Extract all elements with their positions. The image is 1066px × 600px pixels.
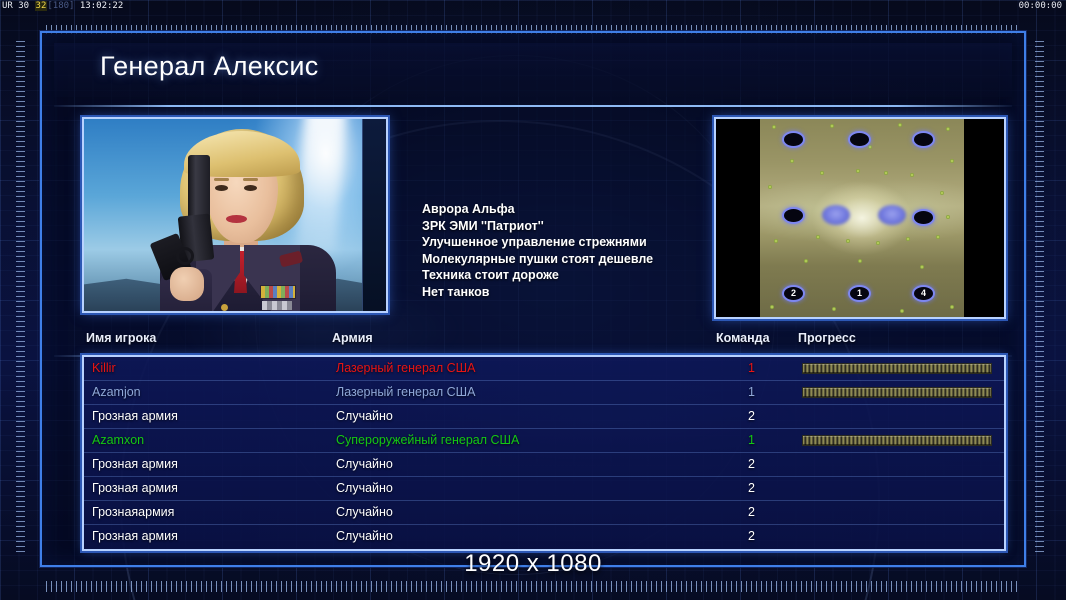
table-row[interactable]: AzamxonСупероружейный генерал США1 <box>84 429 1004 453</box>
ruler-decoration-left <box>16 41 25 554</box>
status-prefix: UR <box>2 1 13 11</box>
map-foliage-dot <box>900 309 904 313</box>
portrait-button-1 <box>221 304 228 311</box>
game-lobby-screen: UR 30 32[180] 13:02:22 00:00:00 Генерал … <box>0 0 1066 600</box>
map-start-position <box>782 207 805 224</box>
map-foliage-dot <box>876 241 880 245</box>
map-foliage-dot <box>820 171 824 175</box>
description-line: Аврора Альфа <box>422 201 712 218</box>
general-portrait <box>82 117 388 313</box>
player-team: 1 <box>748 433 755 447</box>
portrait-side-panel <box>362 119 386 311</box>
pistol-triggerguard-icon <box>176 247 194 265</box>
map-foliage-dot <box>830 124 834 128</box>
player-name: Грознаяармия <box>92 505 174 519</box>
table-row[interactable]: AzamjonЛазерный генерал США1 <box>84 381 1004 405</box>
player-army: Лазерный генерал США <box>336 385 475 399</box>
portrait-medal-ribbons <box>260 285 296 299</box>
map-start-position: 4 <box>912 285 935 302</box>
map-foliage-dot <box>770 305 774 309</box>
player-name: Грозная армия <box>92 529 178 543</box>
map-foliage-dot <box>898 123 902 127</box>
map-foliage-dot <box>774 239 778 243</box>
player-table-body: KillirЛазерный генерал США1AzamjonЛазерн… <box>82 355 1006 551</box>
status-bracket: [180] <box>47 1 74 11</box>
map-start-position <box>912 131 935 148</box>
map-start-position <box>848 131 871 148</box>
map-start-position: 2 <box>782 285 805 302</box>
player-army: Супероружейный генерал США <box>336 433 519 447</box>
map-start-position <box>912 209 935 226</box>
portrait-eye-left <box>215 185 228 191</box>
map-foliage-dot <box>950 305 954 309</box>
player-team: 2 <box>748 529 755 543</box>
description-line: Нет танков <box>422 284 712 301</box>
map-foliage-dot <box>868 145 872 149</box>
map-foliage-dot <box>906 237 910 241</box>
map-foliage-dot <box>950 159 954 163</box>
portrait-hand <box>170 267 204 301</box>
map-foliage-dot <box>940 191 944 195</box>
player-name: Azamxon <box>92 433 144 447</box>
table-row[interactable]: Грозная армияСлучайно2 <box>84 405 1004 429</box>
map-foliage-dot <box>884 171 888 175</box>
map-water-left <box>822 205 850 225</box>
player-progress-bar <box>802 363 992 374</box>
map-foliage-dot <box>946 215 950 219</box>
column-header-army: Армия <box>332 331 373 345</box>
table-row[interactable]: KillirЛазерный генерал США1 <box>84 357 1004 381</box>
player-army: Случайно <box>336 457 393 471</box>
map-foliage-dot <box>936 235 940 239</box>
map-water-right <box>878 205 906 225</box>
column-header-name: Имя игрока <box>86 331 156 345</box>
dialog-frame: Генерал Алексис <box>30 25 1036 570</box>
page-title: Генерал Алексис <box>100 51 319 82</box>
table-row[interactable]: ГрознаяармияСлучайно2 <box>84 501 1004 525</box>
player-army: Случайно <box>336 529 393 543</box>
map-foliage-dot <box>858 259 862 263</box>
ruler-decoration-right <box>1035 41 1044 554</box>
resolution-overlay: 1920 x 1080 <box>0 550 1066 578</box>
table-row[interactable]: Грозная армияСлучайно2 <box>84 453 1004 477</box>
map-foliage-dot <box>910 173 914 177</box>
general-info-row: Аврора Альфа ЗРК ЭМИ ''Патриот'' Улучшен… <box>82 117 1006 322</box>
general-description: Аврора Альфа ЗРК ЭМИ ''Патриот'' Улучшен… <box>422 201 712 301</box>
map-foliage-dot <box>768 185 772 189</box>
player-table-header: Имя игрока Армия Команда Прогресс <box>82 331 1006 351</box>
column-header-team: Команда <box>716 331 770 345</box>
ruler-decoration-bottom <box>46 581 1020 592</box>
table-row[interactable]: Грозная армияСлучайно2 <box>84 525 1004 549</box>
portrait-lips <box>226 215 247 223</box>
dialog-panel: Генерал Алексис <box>40 31 1026 567</box>
player-army: Случайно <box>336 481 393 495</box>
map-preview[interactable]: 214 <box>714 117 1006 319</box>
column-header-progress: Прогресс <box>798 331 856 345</box>
player-name: Killir <box>92 361 116 375</box>
player-name: Грозная армия <box>92 409 178 423</box>
status-bar: UR 30 32[180] 13:02:22 00:00:00 <box>0 0 1066 13</box>
player-army: Случайно <box>336 409 393 423</box>
status-timer: 00:00:00 <box>1019 0 1062 13</box>
status-bar-left: UR 30 32[180] 13:02:22 <box>2 0 123 13</box>
map-preview-canvas: 214 <box>760 119 964 317</box>
status-clock: 13:02:22 <box>80 1 123 11</box>
header-divider <box>54 105 1012 107</box>
player-team: 2 <box>748 481 755 495</box>
player-army: Случайно <box>336 505 393 519</box>
map-foliage-dot <box>804 259 808 263</box>
description-line: Техника стоит дороже <box>422 267 712 284</box>
status-value-1: 30 <box>18 1 29 11</box>
player-name: Грозная армия <box>92 457 178 471</box>
portrait-eye-right <box>244 185 257 191</box>
player-table: Имя игрока Армия Команда Прогресс Killir… <box>82 331 1006 551</box>
map-foliage-dot <box>772 125 776 129</box>
portrait-brow-left <box>214 178 229 181</box>
map-foliage-dot <box>856 169 860 173</box>
map-foliage-dot <box>816 235 820 239</box>
player-name: Грозная армия <box>92 481 178 495</box>
map-foliage-dot <box>790 159 794 163</box>
player-team: 2 <box>748 457 755 471</box>
portrait-brow-right <box>243 178 258 181</box>
description-line: Улучшенное управление стрежнями <box>422 234 712 251</box>
description-line: Молекулярные пушки стоят дешевле <box>422 251 712 268</box>
table-row[interactable]: Грозная армияСлучайно2 <box>84 477 1004 501</box>
status-value-2: 32 <box>35 1 48 11</box>
header-band: Генерал Алексис <box>54 43 1012 97</box>
portrait-medal-bar <box>262 301 292 310</box>
map-foliage-dot <box>846 239 850 243</box>
description-line: ЗРК ЭМИ ''Патриот'' <box>422 218 712 235</box>
map-start-position <box>782 131 805 148</box>
player-army: Лазерный генерал США <box>336 361 475 375</box>
player-name: Azamjon <box>92 385 141 399</box>
map-foliage-dot <box>832 307 836 311</box>
map-foliage-dot <box>920 265 924 269</box>
player-progress-bar <box>802 435 992 446</box>
map-start-position: 1 <box>848 285 871 302</box>
player-team: 2 <box>748 409 755 423</box>
player-team: 2 <box>748 505 755 519</box>
player-team: 1 <box>748 385 755 399</box>
map-foliage-dot <box>946 127 950 131</box>
player-team: 1 <box>748 361 755 375</box>
player-progress-bar <box>802 387 992 398</box>
